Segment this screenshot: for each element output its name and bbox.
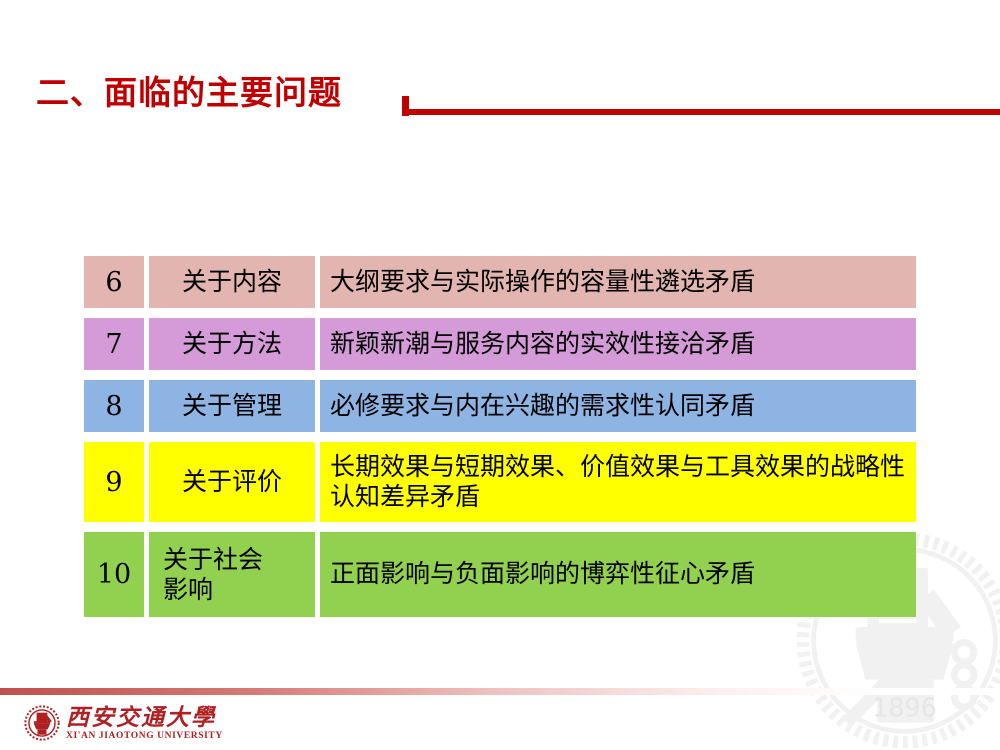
footer-divider — [0, 688, 1000, 695]
row-category-cell: 关于社会 影响 — [149, 532, 315, 617]
table-row: 9 关于评价 长期效果与短期效果、价值效果与工具效果的战略性认知差异矛盾 — [84, 442, 916, 522]
table-row: 8 关于管理 必修要求与内在兴趣的需求性认同矛盾 — [84, 380, 916, 432]
row-number-cell: 6 — [84, 256, 144, 308]
row-category-cell: 关于方法 — [149, 318, 315, 370]
row-category-cell: 关于评价 — [149, 442, 315, 522]
row-category-cell: 关于内容 — [149, 256, 315, 308]
title-underline — [406, 109, 1000, 115]
row-number-cell: 10 — [84, 532, 144, 617]
table-row: 10 关于社会 影响 正面影响与负面影响的博弈性征心矛盾 — [84, 532, 916, 617]
row-description-cell: 长期效果与短期效果、价值效果与工具效果的战略性认知差异矛盾 — [320, 442, 916, 522]
slide-canvas: 1896 二、面临的主要问题 6 关于内容 大纲要求与实际操作的容量性遴选矛盾 … — [0, 0, 1000, 750]
logo-chinese-name: 西安交通大學 — [66, 705, 223, 730]
xjtu-seal-icon — [24, 705, 60, 741]
row-number-cell: 9 — [84, 442, 144, 522]
slide-title-row: 二、面临的主要问题 — [0, 72, 1000, 124]
logo-english-name: XI'AN JIAOTONG UNIVERSITY — [66, 730, 223, 742]
row-number-cell: 7 — [84, 318, 144, 370]
watermark-year: 1896 — [872, 693, 937, 723]
row-description-cell: 正面影响与负面影响的博弈性征心矛盾 — [320, 532, 916, 617]
page-title: 二、面临的主要问题 — [36, 72, 342, 114]
table-row: 7 关于方法 新颖新潮与服务内容的实效性接洽矛盾 — [84, 318, 916, 370]
table-row: 6 关于内容 大纲要求与实际操作的容量性遴选矛盾 — [84, 256, 916, 308]
row-category-line-1: 关于社会 — [163, 545, 263, 575]
row-description-cell: 必修要求与内在兴趣的需求性认同矛盾 — [320, 380, 916, 432]
logo-wordmark: 西安交通大學 XI'AN JIAOTONG UNIVERSITY — [66, 705, 223, 742]
university-logo: 西安交通大學 XI'AN JIAOTONG UNIVERSITY — [24, 703, 223, 743]
row-description-cell: 大纲要求与实际操作的容量性遴选矛盾 — [320, 256, 916, 308]
problems-table: 6 关于内容 大纲要求与实际操作的容量性遴选矛盾 7 关于方法 新颖新潮与服务内… — [84, 256, 916, 617]
row-description-cell: 新颖新潮与服务内容的实效性接洽矛盾 — [320, 318, 916, 370]
row-category-cell: 关于管理 — [149, 380, 315, 432]
row-category-line-2: 影响 — [163, 575, 213, 605]
row-number-cell: 8 — [84, 380, 144, 432]
